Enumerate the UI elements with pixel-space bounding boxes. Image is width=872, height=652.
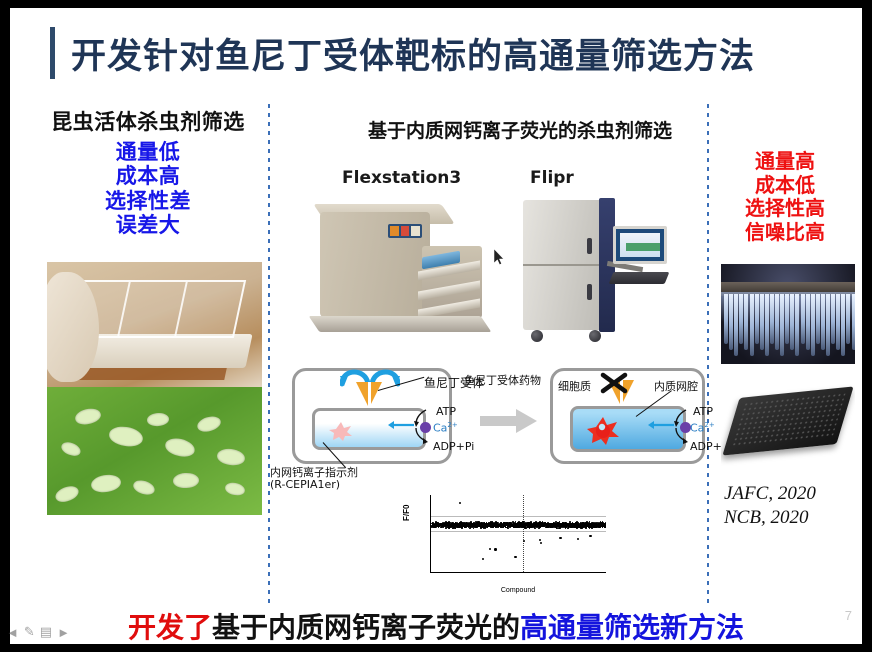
pipette-tip xyxy=(724,294,728,344)
transition-arrow-icon xyxy=(480,408,538,434)
threshold-line xyxy=(431,531,606,532)
pipette-tip-array-photo xyxy=(721,264,855,364)
pipette-tip xyxy=(780,294,784,356)
pipette-tip xyxy=(831,294,835,344)
caster-wheel xyxy=(589,330,601,342)
citation-1: NCB, 2020 xyxy=(724,506,862,530)
microplate-wells xyxy=(731,392,846,447)
right-bullet-0: 通量高 xyxy=(710,150,860,174)
right-bullet-2: 选择性高 xyxy=(710,197,860,221)
outlier-point xyxy=(523,540,525,542)
data-point xyxy=(464,523,466,525)
data-point xyxy=(445,527,447,529)
channel-pore xyxy=(368,382,371,408)
computer-monitor xyxy=(613,226,667,264)
pen-tool-icon[interactable]: ✎ xyxy=(24,624,35,640)
caster-wheel xyxy=(531,330,543,342)
data-point xyxy=(451,525,453,527)
left-bullet-0: 通量低 xyxy=(28,140,268,164)
pipette-tip xyxy=(760,294,764,350)
data-point xyxy=(538,528,540,530)
flexstation3-photo xyxy=(310,204,490,349)
data-point xyxy=(580,528,582,530)
x-tick-mark xyxy=(431,572,432,573)
pipette-tip xyxy=(755,294,759,344)
cabinet-handle xyxy=(587,284,592,300)
er-lumen-label: 内质网腔 xyxy=(654,378,698,394)
pipette-tip xyxy=(750,294,754,356)
data-point xyxy=(483,527,485,529)
calcium-label-left: Ca2+ xyxy=(433,421,458,435)
slide-canvas: 开发针对鱼尼丁受体靶标的高通量筛选方法 昆虫活体杀虫剂筛选 通量低 成本高 选择… xyxy=(10,8,862,644)
y-tick-mark xyxy=(430,516,431,517)
data-point xyxy=(542,522,544,524)
adp-label-left: ADP+Pi xyxy=(433,440,474,453)
pipette-tip xyxy=(729,294,733,350)
data-point xyxy=(576,527,578,529)
y-tick-mark xyxy=(430,541,431,542)
slide-page-number: 7 xyxy=(845,608,852,623)
cabinet-seam xyxy=(523,264,603,266)
left-bullet-3: 误差大 xyxy=(28,213,268,237)
divider-left xyxy=(268,104,270,604)
pipette-tip xyxy=(785,294,789,344)
pipette-tip xyxy=(744,294,748,350)
data-point xyxy=(435,524,437,526)
pipette-tip xyxy=(841,294,845,356)
slide-title-bar: 开发针对鱼尼丁受体靶标的高通量筛选方法 xyxy=(50,22,840,84)
left-panel: 昆虫活体杀虫剂筛选 通量低 成本高 选择性差 误差大 xyxy=(28,106,268,237)
drug-arrow-label: 鱼尼丁受体药物 xyxy=(464,372,541,388)
outlier-point xyxy=(589,535,591,537)
previous-slide-arrow-icon[interactable]: ◄ xyxy=(6,625,19,640)
data-point xyxy=(583,523,585,525)
pipette-tip xyxy=(775,294,779,350)
citation-0: JAFC, 2020 xyxy=(724,482,862,506)
pipette-tip xyxy=(836,294,840,350)
data-point xyxy=(469,527,471,529)
aphids-on-leaf-photo xyxy=(47,387,262,515)
data-point xyxy=(575,523,577,525)
data-point xyxy=(437,524,439,526)
data-point xyxy=(604,526,606,528)
blocked-channel-x-icon xyxy=(600,372,628,394)
y-tick-mark xyxy=(430,500,431,501)
next-slide-arrow-icon[interactable]: ► xyxy=(57,625,70,640)
data-point xyxy=(559,525,561,527)
outlier-point xyxy=(494,548,496,550)
y-tick-mark xyxy=(430,505,431,506)
data-point xyxy=(602,527,604,529)
data-point xyxy=(446,524,448,526)
atp-label-right: ATP xyxy=(693,405,713,418)
data-point xyxy=(517,525,519,527)
data-point xyxy=(556,527,558,529)
data-point xyxy=(513,526,515,528)
data-point xyxy=(459,526,461,528)
pipette-tip xyxy=(739,294,743,344)
data-point xyxy=(501,527,503,529)
calcium-label-right: Ca2+ xyxy=(690,421,715,435)
outlier-point xyxy=(559,537,561,539)
outlier-point xyxy=(459,502,461,504)
presenter-controls[interactable]: ◄ ✎ ▤ ► xyxy=(6,624,70,640)
data-point xyxy=(585,526,587,528)
pipette-tip xyxy=(826,294,830,356)
pipette-tip xyxy=(734,294,738,356)
y-tick-mark xyxy=(430,557,431,558)
pipette-tip xyxy=(765,294,769,356)
pipette-tip xyxy=(811,294,815,356)
screening-scatter-chart: F/F0 0.00.10.20.30.40.50.60.70.80.91.01.… xyxy=(400,491,615,603)
y-tick-mark xyxy=(430,531,431,532)
outlier-point xyxy=(514,556,516,558)
outlier-point xyxy=(482,558,484,560)
data-point xyxy=(590,524,592,526)
x-tick-mark xyxy=(598,572,599,573)
outlier-point xyxy=(489,548,491,550)
data-point xyxy=(534,527,536,529)
pipette-tip xyxy=(816,294,820,344)
x-tick-mark xyxy=(514,572,515,573)
cabinet-handle xyxy=(587,238,592,254)
data-point xyxy=(539,525,541,527)
data-point xyxy=(525,528,527,530)
data-point xyxy=(477,522,479,524)
data-point xyxy=(574,526,576,528)
chart-x-axis-label: Compound xyxy=(430,587,606,594)
slide-menu-icon[interactable]: ▤ xyxy=(40,624,52,640)
pipette-tip xyxy=(790,294,794,350)
outlier-point xyxy=(540,542,542,544)
atp-adp-arrows-right xyxy=(646,408,696,448)
data-point xyxy=(583,526,585,528)
data-point xyxy=(493,524,495,526)
y-tick-mark xyxy=(430,536,431,537)
y-tick-mark xyxy=(430,495,431,496)
y-tick-mark xyxy=(430,572,431,573)
data-point xyxy=(456,525,458,527)
indicator-label-line2: (R-CEPIA1er) xyxy=(270,478,340,491)
banner-part-blue: 高通量筛选新方法 xyxy=(520,606,744,644)
er-calcium-mechanism-diagram: ATP Ca2+ ADP+Pi 鱼尼丁受体 内网钙离子指示剂 (R-CEPIA1… xyxy=(268,360,708,500)
data-point xyxy=(547,525,549,527)
data-point xyxy=(542,526,544,528)
left-bullet-1: 成本高 xyxy=(28,164,268,188)
calcium-indicator-signal-right xyxy=(586,416,620,446)
insect-bioassay-photo xyxy=(47,262,262,387)
control-panel xyxy=(388,224,422,238)
data-point xyxy=(592,525,594,527)
data-point xyxy=(471,525,473,527)
pipette-tip xyxy=(821,294,825,350)
y-tick-mark xyxy=(430,562,431,563)
atp-label-left: ATP xyxy=(436,405,456,418)
calcium-indicator-signal-left xyxy=(328,420,354,442)
batch-separator-line xyxy=(523,495,524,572)
banner-part-black: 基于内质网钙离子荧光的 xyxy=(212,606,520,644)
device-label-flipr: Flipr xyxy=(530,168,574,188)
data-point xyxy=(594,522,596,524)
right-bullet-3: 信噪比高 xyxy=(710,221,860,245)
left-panel-bullets: 通量低 成本高 选择性差 误差大 xyxy=(28,140,268,237)
data-point xyxy=(440,526,442,528)
data-point xyxy=(434,527,436,529)
data-point xyxy=(598,526,600,528)
keyboard-tray xyxy=(609,272,670,284)
pipette-tip xyxy=(801,294,805,344)
data-point xyxy=(557,522,559,524)
flipr-photo xyxy=(515,198,670,353)
pipette-tip xyxy=(806,294,810,350)
data-point xyxy=(455,522,457,524)
black-microplate-photo xyxy=(721,368,855,468)
data-point xyxy=(452,527,454,529)
instrument-base xyxy=(309,316,492,332)
right-bullet-1: 成本低 xyxy=(710,174,860,198)
page-title: 开发针对鱼尼丁受体靶标的高通量筛选方法 xyxy=(71,28,755,79)
y-tick-mark xyxy=(430,510,431,511)
pipette-tip xyxy=(770,294,774,344)
y-tick-mark xyxy=(430,521,431,522)
divider-right xyxy=(707,104,709,604)
conclusion-banner: 开发了基于内质网钙离子荧光的高通量筛选新方法 xyxy=(10,604,862,644)
pipette-tip xyxy=(852,294,856,350)
outlier-point xyxy=(539,539,541,541)
data-point xyxy=(454,527,456,529)
chart-plot-area: 0.00.10.20.30.40.50.60.70.80.91.01.11.21… xyxy=(430,495,606,573)
outlier-point xyxy=(577,538,579,540)
cytosol-label: 细胞质 xyxy=(558,378,591,394)
left-panel-heading: 昆虫活体杀虫剂筛选 xyxy=(28,106,268,136)
device-label-flexstation: Flexstation3 xyxy=(342,168,461,188)
data-point xyxy=(431,525,433,527)
data-point xyxy=(489,522,491,524)
pipette-tip xyxy=(795,294,799,356)
y-tick-mark xyxy=(430,551,431,552)
data-point xyxy=(600,521,602,523)
chart-y-axis-label: F/F0 xyxy=(402,505,411,521)
data-point xyxy=(497,525,499,527)
center-panel-heading: 基于内质网钙离子荧光的杀虫剂筛选 xyxy=(310,116,730,143)
data-point xyxy=(581,525,583,527)
data-point xyxy=(561,525,563,527)
right-panel-bullets: 通量高 成本低 选择性高 信噪比高 xyxy=(710,150,860,244)
data-point xyxy=(480,526,482,528)
y-tick-mark xyxy=(430,567,431,568)
data-point xyxy=(484,524,486,526)
banner-part-red: 开发了 xyxy=(128,606,212,644)
title-accent-rule xyxy=(50,27,55,79)
data-point xyxy=(527,522,529,524)
atp-adp-arrows-left xyxy=(386,408,436,448)
data-point xyxy=(568,526,570,528)
data-point xyxy=(595,526,597,528)
left-bullet-2: 选择性差 xyxy=(28,189,268,213)
mouse-cursor-icon xyxy=(494,249,506,267)
citation-list: JAFC, 2020 NCB, 2020 xyxy=(724,482,862,530)
y-tick-mark xyxy=(430,546,431,547)
y-tick-mark xyxy=(430,526,431,527)
microplate-body xyxy=(722,386,853,455)
pipette-tip xyxy=(846,294,850,344)
threshold-line xyxy=(431,516,606,517)
